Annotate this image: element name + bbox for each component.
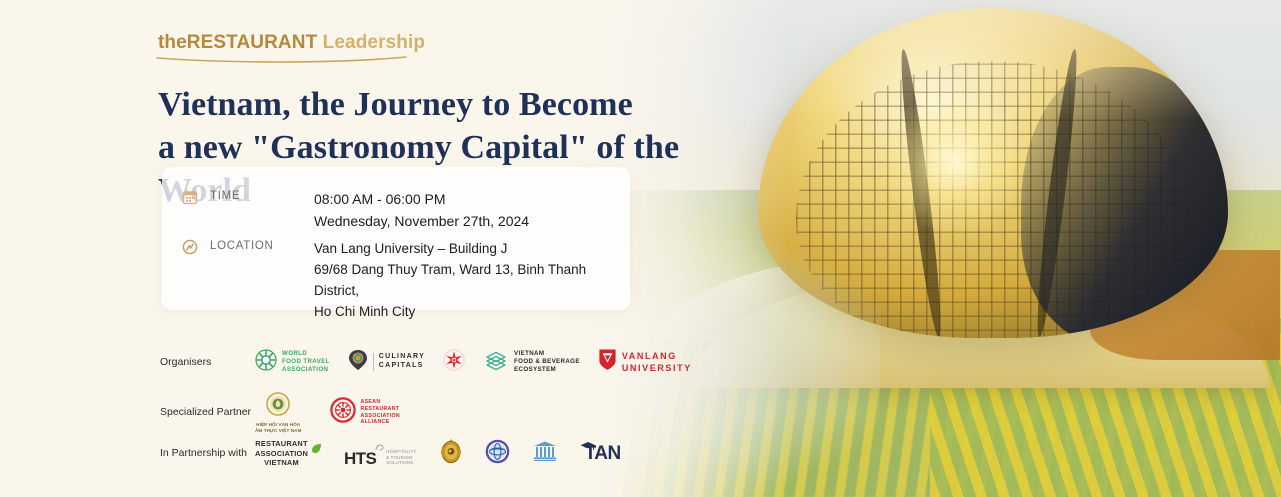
araa-mark-icon bbox=[330, 397, 356, 428]
location-row: LOCATION Van Lang University – Building … bbox=[182, 239, 630, 323]
hts-hospitality-tourism-solutions-logo[interactable]: HTS HOSPITALITY & TOURISM SOLUTIONS bbox=[344, 440, 417, 467]
logo-row-organisers: Organisers bbox=[160, 348, 692, 376]
culinary-capitals-logo[interactable]: CULINARY CAPITALS bbox=[348, 349, 425, 376]
brand-underline-swoosh bbox=[156, 55, 414, 65]
van-lang-university-logo[interactable]: VANLANG UNIVERSITY bbox=[598, 348, 692, 376]
brand-wordmark: theRESTAURANT Leadership bbox=[158, 33, 425, 52]
logo-list-organisers: WORLD FOOD TRAVEL ASSOCIATION bbox=[255, 348, 692, 376]
location-label: LOCATION bbox=[210, 239, 294, 254]
event-info-card: TIME 08:00 AM - 06:00 PM Wednesday, Nove… bbox=[162, 167, 630, 310]
brand-text-secondary: Leadership bbox=[317, 32, 425, 53]
logo-row-label-organisers: Organisers bbox=[160, 356, 255, 369]
wfta-wordmark: WORLD FOOD TRAVEL ASSOCIATION bbox=[282, 350, 330, 373]
vcca-wordmark: HIỆP HỘI VĂN HÓA ẨM THỰC VIỆT NAM bbox=[255, 422, 302, 433]
rav-leaf-icon bbox=[311, 441, 322, 459]
headline-line-1: Vietnam, the Journey to Become bbox=[158, 86, 633, 123]
vfbe-mark-icon bbox=[483, 349, 509, 376]
restaurant-association-vietnam-logo[interactable]: RESTAURANT ASSOCIATION VIETNAM bbox=[255, 439, 322, 468]
logo-list-specialized-partner: HIỆP HỘI VĂN HÓA ẨM THỰC VIỆT NAM bbox=[255, 392, 400, 433]
culinary-capitals-wordmark: CULINARY CAPITALS bbox=[373, 353, 425, 371]
logo-row-label-specialized-partner: Specialized Partner bbox=[160, 406, 255, 419]
time-label: TIME bbox=[210, 189, 294, 204]
logo-row-in-partnership-with: In Partnership with RESTAURANT ASSOCIATI… bbox=[160, 438, 621, 469]
unesco-temple-icon bbox=[532, 440, 558, 467]
van-lang-shield-icon bbox=[598, 348, 617, 376]
location-icon bbox=[182, 239, 198, 255]
blue-seal-logo[interactable] bbox=[485, 439, 510, 469]
blue-seal-icon bbox=[485, 439, 510, 469]
world-food-travel-association-logo[interactable]: WORLD FOOD TRAVEL ASSOCIATION bbox=[255, 349, 330, 376]
tan-logo[interactable]: TAN bbox=[580, 440, 621, 468]
red-star-badge-logo[interactable] bbox=[443, 349, 465, 376]
vfbe-wordmark: VIETNAM FOOD & BEVERAGE ECOSYSTEM bbox=[514, 350, 580, 373]
araa-wordmark: ASEAN RESTAURANT ASSOCIATION ALLIANCE bbox=[361, 399, 401, 426]
calendar-icon bbox=[182, 189, 198, 205]
brand-text: theRESTAURANT Leadership bbox=[158, 33, 425, 52]
content-area: theRESTAURANT Leadership Vietnam, the Jo… bbox=[0, 0, 700, 497]
unesco-logo[interactable] bbox=[532, 440, 558, 467]
location-value: Van Lang University – Building J 69/68 D… bbox=[314, 239, 630, 323]
gold-emblem-icon bbox=[439, 438, 463, 469]
vietnam-food-beverage-ecosystem-logo[interactable]: VIETNAM FOOD & BEVERAGE ECOSYSTEM bbox=[483, 349, 580, 376]
vietnam-culinary-culture-association-logo[interactable]: HIỆP HỘI VĂN HÓA ẨM THỰC VIỆT NAM bbox=[255, 392, 302, 433]
event-banner: theRESTAURANT Leadership Vietnam, the Jo… bbox=[0, 0, 1281, 497]
time-value: 08:00 AM - 06:00 PM Wednesday, November … bbox=[314, 189, 529, 232]
hts-swirl-icon bbox=[375, 440, 384, 458]
vcca-seal-icon bbox=[266, 392, 290, 421]
asean-restaurant-association-alliance-logo[interactable]: ASEAN RESTAURANT ASSOCIATION ALLIANCE bbox=[330, 397, 401, 428]
rav-wordmark: RESTAURANT ASSOCIATION VIETNAM bbox=[255, 439, 308, 468]
hts-wordmark: HTS bbox=[344, 450, 376, 467]
wfta-mark-icon bbox=[255, 349, 277, 376]
van-lang-wordmark: VANLANG UNIVERSITY bbox=[622, 350, 692, 374]
red-star-badge-icon bbox=[443, 349, 465, 376]
logo-list-in-partnership-with: RESTAURANT ASSOCIATION VIETNAM HTS bbox=[255, 438, 621, 469]
brand-text-primary: theRESTAURANT bbox=[158, 32, 317, 53]
tan-wordmark: TAN bbox=[585, 444, 621, 463]
logo-row-label-in-partnership-with: In Partnership with bbox=[160, 447, 255, 460]
hts-subtitle: HOSPITALITY & TOURISM SOLUTIONS bbox=[386, 449, 416, 466]
gold-emblem-logo[interactable] bbox=[439, 438, 463, 469]
logo-row-specialized-partner: Specialized Partner HIỆP HỘI VĂN HÓA ẨM … bbox=[160, 392, 400, 433]
time-row: TIME 08:00 AM - 06:00 PM Wednesday, Nove… bbox=[182, 189, 529, 232]
culinary-capitals-pin-icon bbox=[348, 349, 368, 376]
